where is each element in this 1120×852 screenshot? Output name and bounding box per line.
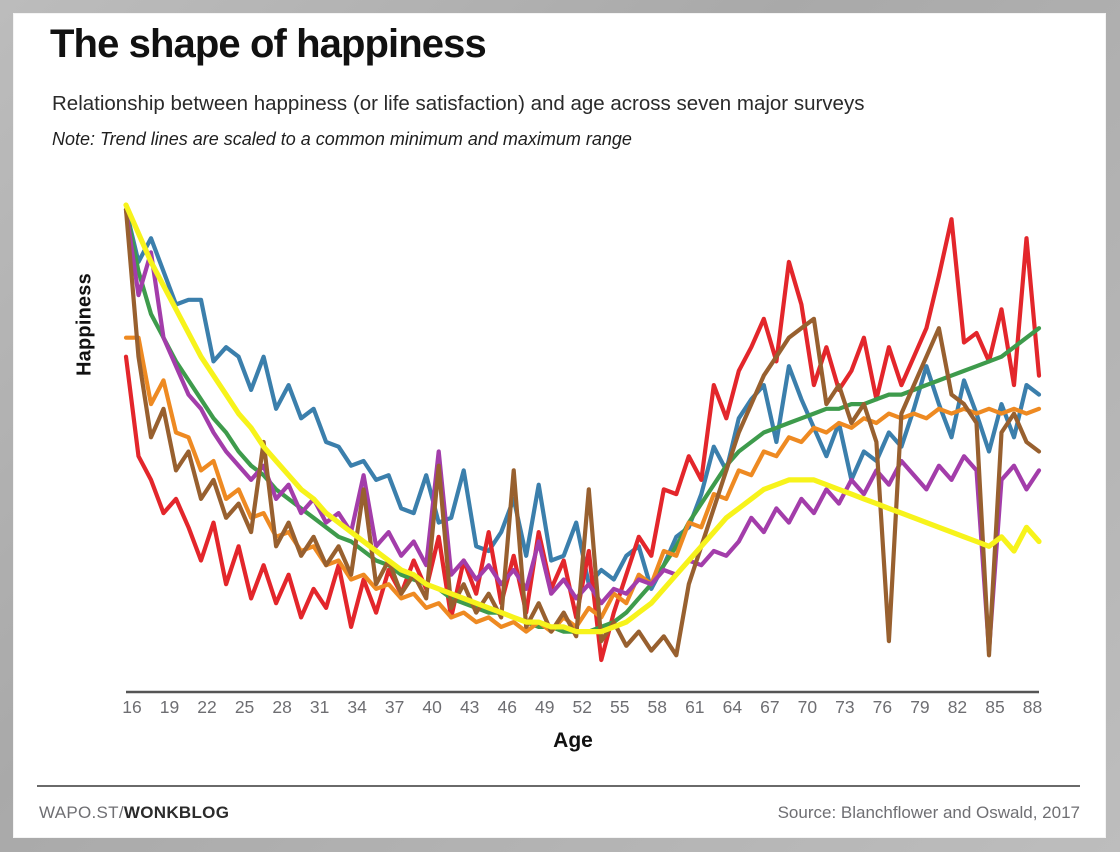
series-group — [126, 205, 1039, 660]
y-axis-label: Happiness — [74, 245, 97, 405]
x-tick-label: 49 — [528, 697, 562, 718]
x-tick-label: 22 — [190, 697, 224, 718]
x-tick-label: 40 — [415, 697, 449, 718]
chart-plot-area: Happiness 161922252831343740434649525558… — [13, 13, 1105, 837]
x-tick-label: 46 — [490, 697, 524, 718]
x-tick-label: 19 — [153, 697, 187, 718]
footer-brand-name: WONKBLOG — [124, 803, 229, 822]
x-tick-label: 70 — [790, 697, 824, 718]
x-tick-label: 67 — [753, 697, 787, 718]
x-tick-label: 82 — [940, 697, 974, 718]
x-tick-label: 88 — [1015, 697, 1049, 718]
footer-divider — [37, 785, 1080, 787]
x-tick-label: 76 — [865, 697, 899, 718]
x-tick-label: 25 — [228, 697, 262, 718]
x-tick-label: 85 — [978, 697, 1012, 718]
screenshot-frame: The shape of happiness Relationship betw… — [0, 0, 1120, 852]
footer-brand-prefix: WAPO.ST/ — [39, 803, 124, 822]
x-axis-ticks: 1619222528313437404346495255586164677073… — [118, 697, 1048, 721]
x-tick-label: 79 — [903, 697, 937, 718]
x-tick-label: 55 — [603, 697, 637, 718]
x-tick-label: 37 — [378, 697, 412, 718]
x-tick-label: 73 — [828, 697, 862, 718]
x-tick-label: 61 — [678, 697, 712, 718]
footer-source: Source: Blanchflower and Oswald, 2017 — [778, 803, 1080, 823]
x-tick-label: 58 — [640, 697, 674, 718]
footer-brand: WAPO.ST/WONKBLOG — [39, 803, 229, 823]
x-tick-label: 28 — [265, 697, 299, 718]
x-tick-label: 34 — [340, 697, 374, 718]
x-tick-label: 64 — [715, 697, 749, 718]
x-tick-label: 43 — [453, 697, 487, 718]
chart-card: The shape of happiness Relationship betw… — [13, 13, 1106, 838]
series-line-survey-blue — [126, 210, 1039, 589]
x-axis-label: Age — [483, 729, 663, 753]
x-tick-label: 16 — [115, 697, 149, 718]
x-tick-label: 31 — [303, 697, 337, 718]
x-tick-label: 52 — [565, 697, 599, 718]
